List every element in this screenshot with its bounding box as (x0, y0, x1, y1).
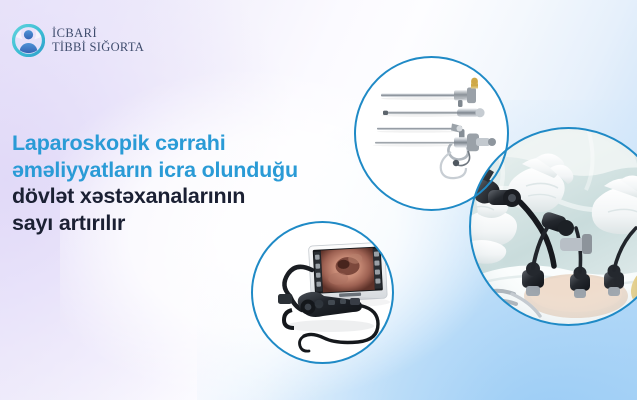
brand-line-1: İCBARİ (52, 27, 144, 41)
brand-logo-text: İCBARİ TİBBİ SIĞORTA (52, 27, 144, 54)
surgery-operation-photo (470, 128, 637, 324)
circle-person-logo-icon (12, 24, 45, 57)
brand-line-2: TİBBİ SIĞORTA (52, 41, 144, 55)
headline: Laparoskopik cərrahi əməliyyatların icra… (12, 130, 352, 236)
endoscope-monitor-photo (252, 222, 392, 362)
headline-line-2: əməliyyatların icra olunduğu (12, 157, 352, 184)
promo-banner: İCBARİ TİBBİ SIĞORTA Laparoskopik cərrah… (0, 0, 637, 400)
headline-line-1: Laparoskopik cərrahi (12, 130, 352, 157)
headline-line-4: sayı artırılır (12, 210, 352, 237)
brand-logo[interactable]: İCBARİ TİBBİ SIĞORTA (12, 24, 144, 57)
headline-line-3: dövlət xəstəxanalarının (12, 183, 352, 210)
